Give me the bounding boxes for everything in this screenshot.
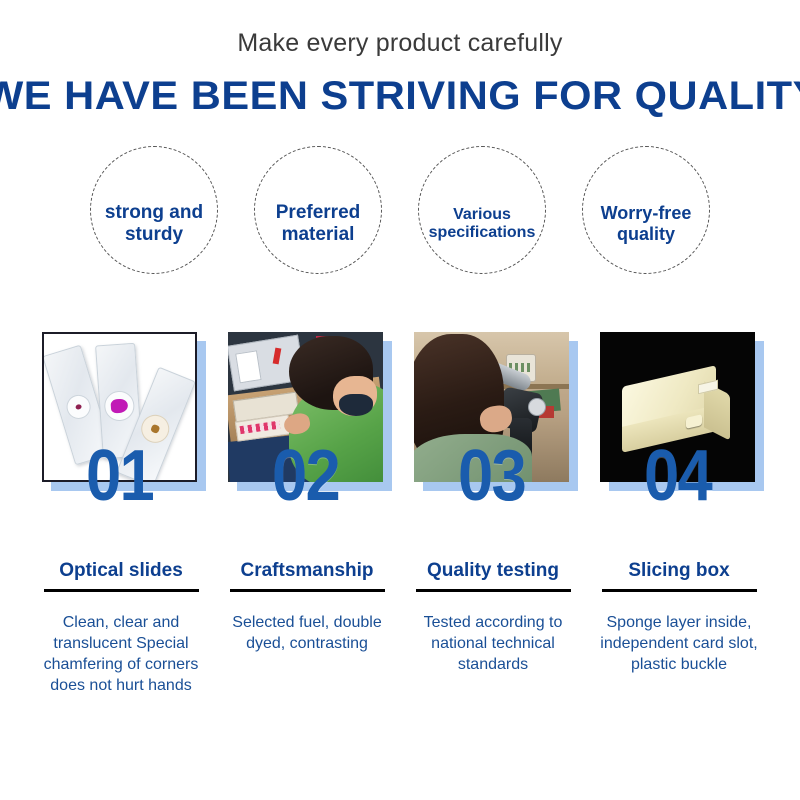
card-description: Sponge layer inside, independent card sl… xyxy=(594,612,764,675)
card-title: Quality testing xyxy=(408,560,578,582)
card-description: Selected fuel, double dyed, contrasting xyxy=(222,612,392,654)
feature-badge-various-specifications: Various specifications xyxy=(418,146,546,274)
card-title: Craftsmanship xyxy=(222,560,392,582)
product-photo-frame: 01 xyxy=(42,332,197,482)
page-title: WE HAVE BEEN STRIVING FOR QUALITY xyxy=(0,74,800,118)
product-photo-frame: 04 xyxy=(600,332,755,482)
feature-badge-label: Various specifications xyxy=(419,206,545,242)
card-number: 02 xyxy=(272,440,339,512)
product-photo-frame: 02 xyxy=(228,332,383,482)
product-card-slicing-box: 04 Slicing box Sponge layer inside, inde… xyxy=(594,332,764,696)
feature-badge-worry-free-quality: Worry-free quality xyxy=(582,146,710,274)
card-divider xyxy=(416,589,571,592)
card-title: Optical slides xyxy=(36,560,206,582)
feature-badge-label: Worry-free quality xyxy=(583,203,709,244)
product-card-craftsmanship: 02 Craftsmanship Selected fuel, double d… xyxy=(222,332,392,696)
card-number: 04 xyxy=(644,440,711,512)
card-number: 01 xyxy=(86,440,153,512)
card-title: Slicing box xyxy=(594,560,764,582)
product-card-optical-slides: 01 Optical slides Clean, clear and trans… xyxy=(36,332,206,696)
card-divider xyxy=(230,589,385,592)
page-subtitle: Make every product carefully xyxy=(0,28,800,58)
card-description: Tested according to national technical s… xyxy=(408,612,578,675)
card-divider xyxy=(602,589,757,592)
feature-badge-label: strong and sturdy xyxy=(91,202,217,245)
card-divider xyxy=(44,589,199,592)
page-header: Make every product carefully WE HAVE BEE… xyxy=(0,0,800,118)
feature-badge-strong-and-sturdy: strong and sturdy xyxy=(90,146,218,274)
product-photo-frame: 03 xyxy=(414,332,569,482)
card-description: Clean, clear and translucent Special cha… xyxy=(36,612,206,696)
feature-badge-preferred-material: Preferred material xyxy=(254,146,382,274)
feature-badge-row: strong and sturdy Preferred material Var… xyxy=(0,146,800,274)
card-number: 03 xyxy=(458,440,525,512)
product-card-row: 01 Optical slides Clean, clear and trans… xyxy=(0,332,800,696)
feature-badge-label: Preferred material xyxy=(255,202,381,245)
product-card-quality-testing: 03 Quality testing Tested according to n… xyxy=(408,332,578,696)
